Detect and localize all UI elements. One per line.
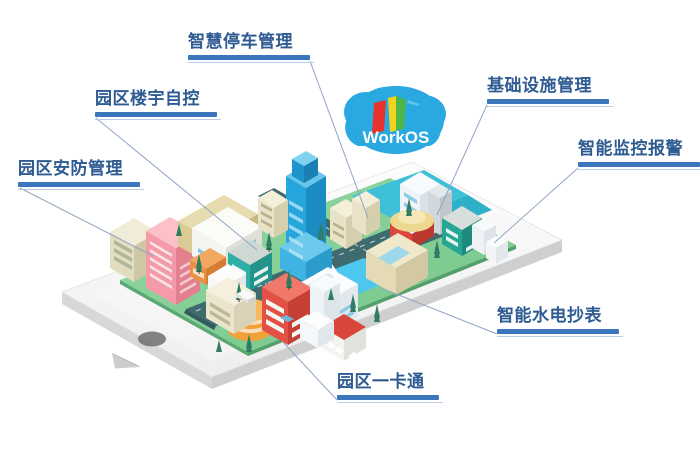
label-park-building-automation[interactable]: 园区楼宇自控: [95, 88, 221, 120]
label-text: 基础设施管理: [487, 75, 613, 96]
speaker-slot: [112, 353, 140, 369]
label-text: 园区楼宇自控: [95, 88, 221, 109]
label-text: 园区安防管理: [18, 158, 144, 179]
label-underline-bar-thin: [497, 336, 623, 338]
building-cream-pair: [258, 190, 288, 238]
label-park-all-in-one-card[interactable]: 园区一卡通: [337, 371, 443, 403]
label-underline-bar: [578, 162, 700, 167]
home-button[interactable]: [138, 332, 166, 347]
label-underline-bar: [337, 395, 439, 400]
label-underline-bar: [188, 55, 310, 60]
label-underline-bar-thin: [95, 119, 221, 121]
label-infrastructure-management[interactable]: 基础设施管理: [487, 75, 613, 107]
label-underline-bar: [95, 112, 217, 117]
label-underline-bar-thin: [578, 169, 700, 171]
infographic-canvas: WorkOS 园区安防管理 园区楼宇自控 智慧停车管理 基础设施管理 智能监控报…: [0, 0, 700, 450]
label-underline-bar: [487, 99, 609, 104]
label-underline-bar-thin: [337, 402, 443, 404]
label-text: 智慧停车管理: [188, 31, 314, 52]
label-smart-utility-metering[interactable]: 智能水电抄表: [497, 305, 623, 337]
label-underline-bar: [18, 182, 140, 187]
label-text: 智能监控报警: [578, 138, 700, 159]
label-park-security-management[interactable]: 园区安防管理: [18, 158, 144, 190]
label-smart-monitoring-alarm[interactable]: 智能监控报警: [578, 138, 700, 170]
workos-cloud-logo: [344, 86, 446, 154]
label-smart-parking-management[interactable]: 智慧停车管理: [188, 31, 314, 63]
label-text: 智能水电抄表: [497, 305, 623, 326]
label-text: 园区一卡通: [337, 371, 443, 392]
label-underline-bar-thin: [487, 106, 613, 108]
label-underline-bar: [497, 329, 619, 334]
label-underline-bar-thin: [188, 62, 314, 64]
label-underline-bar-thin: [18, 189, 144, 191]
